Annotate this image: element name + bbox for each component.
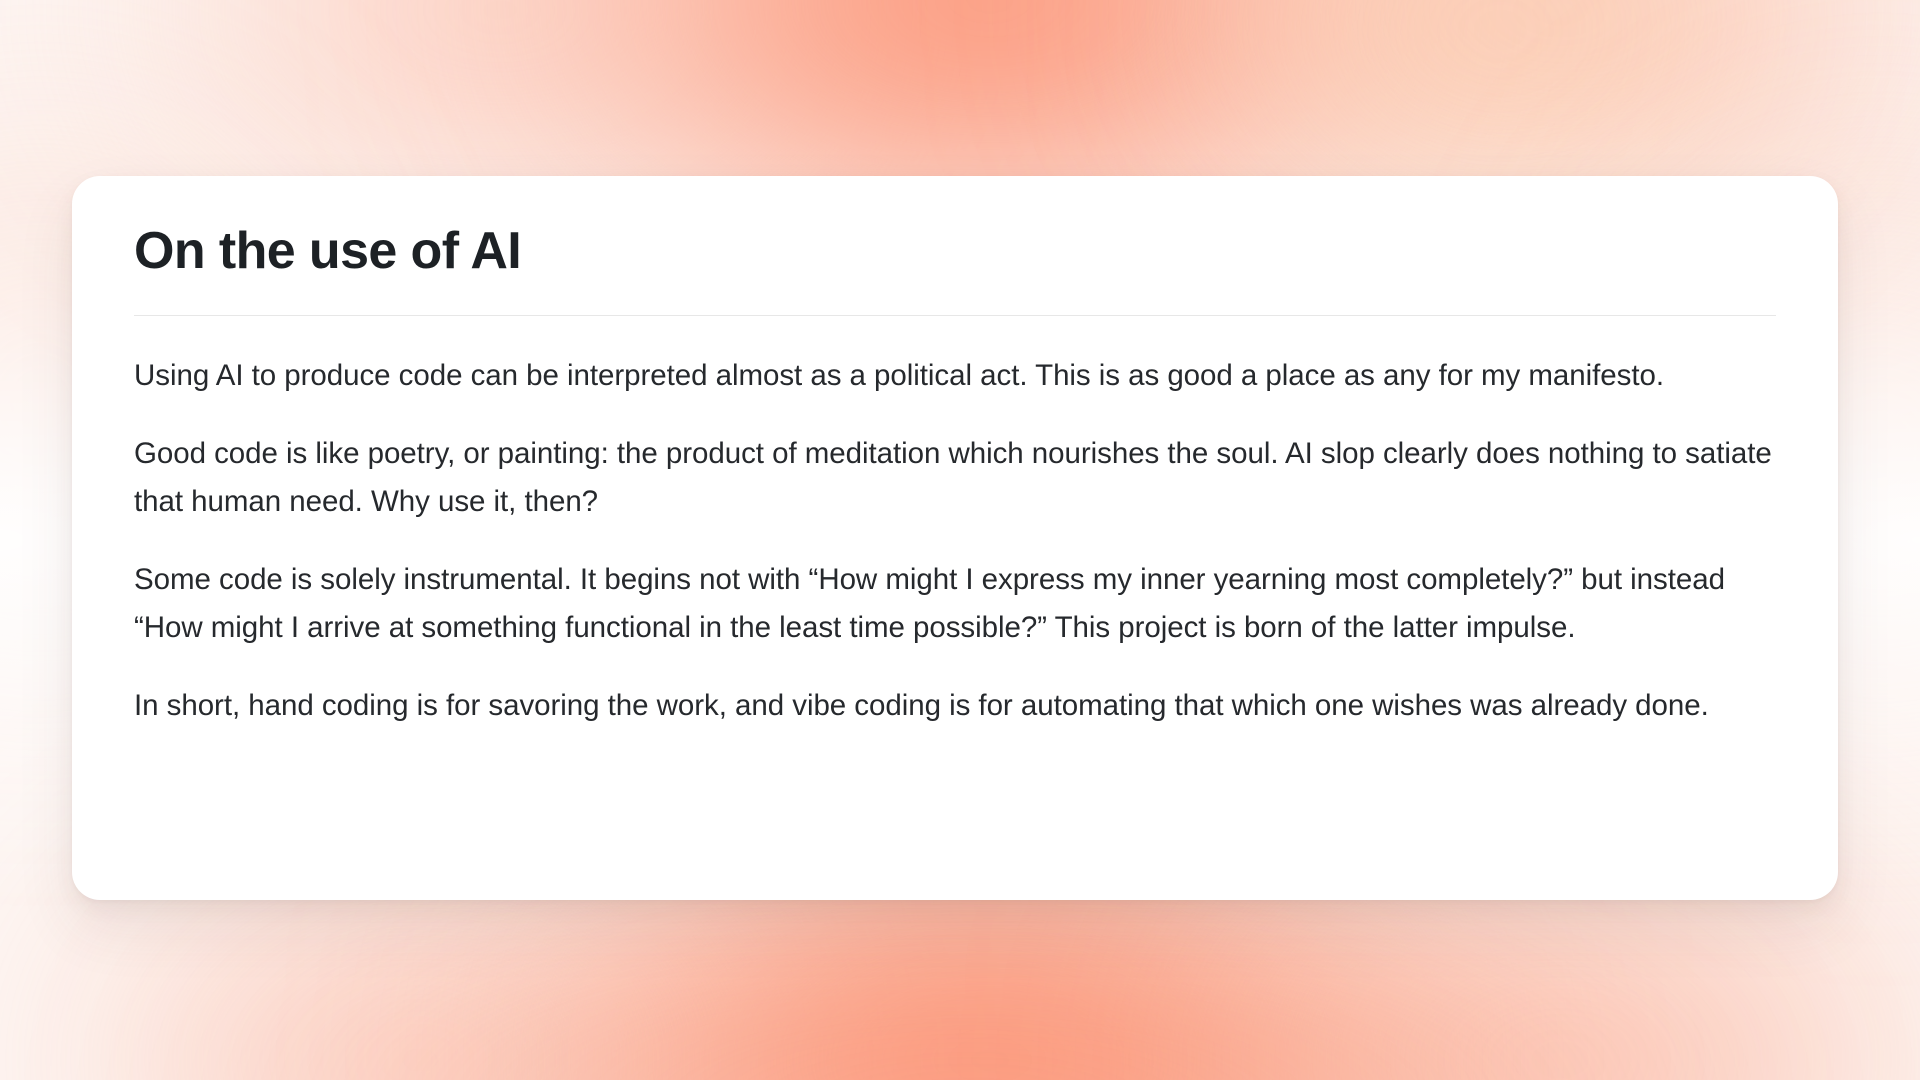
paragraph: Good code is like poetry, or painting: t… <box>134 430 1776 526</box>
paragraph: In short, hand coding is for savoring th… <box>134 682 1776 730</box>
article-card: On the use of AI Using AI to produce cod… <box>72 176 1838 900</box>
paragraph: Using AI to produce code can be interpre… <box>134 352 1776 400</box>
title-divider <box>134 315 1776 316</box>
article-body: Using AI to produce code can be interpre… <box>134 352 1776 730</box>
page-title: On the use of AI <box>134 222 1776 282</box>
paragraph: Some code is solely instrumental. It beg… <box>134 556 1776 652</box>
